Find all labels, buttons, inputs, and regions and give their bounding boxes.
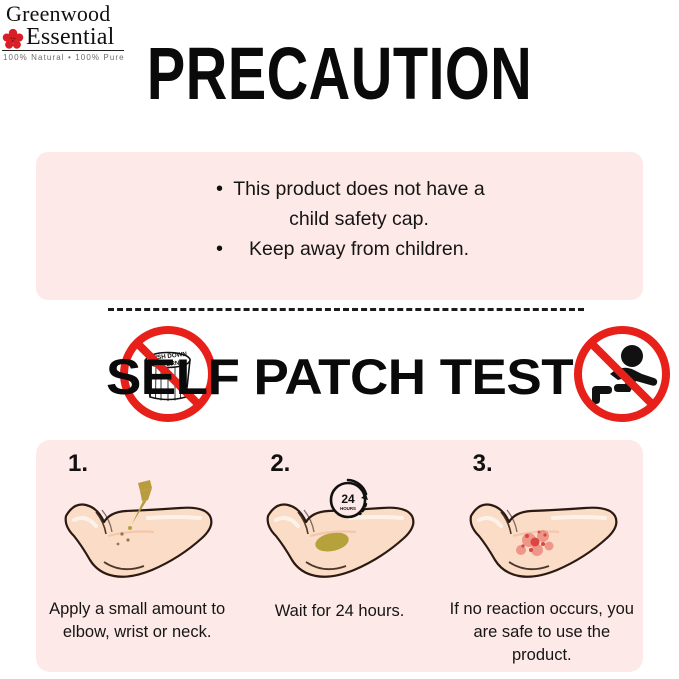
precaution-bullet-text: This product does not have a child safet… <box>232 174 486 234</box>
precaution-bullet-list: • This product does not have a child saf… <box>216 174 486 264</box>
bullet-marker: • <box>216 234 232 264</box>
brand-name-line1: Greenwood <box>6 2 110 26</box>
step-caption: Apply a small amount to elbow, wrist or … <box>42 598 232 644</box>
step-caption: If no reaction occurs, you are safe to u… <box>447 598 637 667</box>
elbow-with-dropper-icon <box>52 478 222 590</box>
patch-step-2: 2. 24 HOURS Wait f <box>238 440 440 672</box>
flower-icon <box>2 28 24 50</box>
clock-unit: HOURS <box>341 506 357 511</box>
step-number: 2. <box>270 450 290 478</box>
precaution-panel: PUSH DOWN & TURN • This product does not… <box>36 152 643 300</box>
step-caption: Wait for 24 hours. <box>244 600 434 623</box>
precaution-bullet-text: Keep away from children. <box>232 234 486 264</box>
precaution-heading: PRECAUTION <box>75 34 605 114</box>
patch-step-1: 1. <box>36 440 238 672</box>
self-patch-test-heading: SELF PATCH TEST <box>0 348 679 406</box>
elbow-with-rash-icon <box>457 478 627 590</box>
list-item: • Keep away from children. <box>216 234 486 264</box>
step-number: 3. <box>473 450 493 478</box>
step-number: 1. <box>68 450 88 478</box>
elbow-with-24-hours-clock-icon: 24 HOURS <box>254 478 424 590</box>
list-item: • This product does not have a child saf… <box>216 174 486 234</box>
section-divider <box>108 308 584 311</box>
bullet-marker: • <box>216 174 232 204</box>
clock-value: 24 <box>342 492 356 506</box>
patch-step-3: 3. <box>441 440 643 672</box>
self-patch-test-panel: 1. <box>36 440 643 672</box>
